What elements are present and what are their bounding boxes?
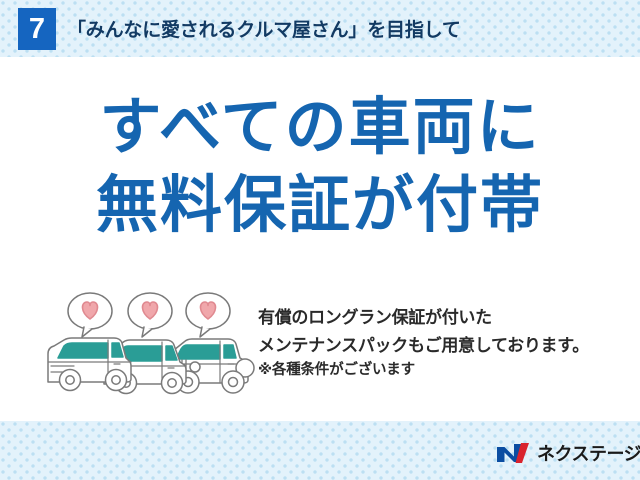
- car-kei-van: [48, 338, 131, 391]
- body-line-2: メンテナンスパックもご用意しております。: [258, 332, 630, 360]
- body-copy: 有償のロングラン保証が付いた メンテナンスパックもご用意しております。 ※各種条…: [258, 304, 630, 383]
- promo-banner: 7 「みんなに愛されるクルマ屋さん」を目指して すべての車両に 無料保証が付帯: [0, 0, 640, 480]
- brand-logo: ネクステージ: [496, 440, 640, 466]
- brand-name: ネクステージ: [537, 440, 640, 466]
- content-row: 有償のロングラン保証が付いた メンテナンスパックもご用意しております。 ※各種条…: [0, 288, 640, 406]
- heart-bubble-1: [68, 293, 112, 337]
- headline-line-1: すべての車両に: [0, 96, 640, 160]
- headline: すべての車両に 無料保証が付帯: [0, 96, 640, 239]
- body-line-1: 有償のロングラン保証が付いた: [258, 304, 630, 332]
- body-note: ※各種条件がございます: [258, 359, 630, 382]
- header-title: 「みんなに愛されるクルマ屋さん」を目指して: [67, 15, 461, 42]
- cars-with-hearts-illustration: [40, 288, 255, 403]
- header: 7 「みんなに愛されるクルマ屋さん」を目指して: [0, 0, 640, 57]
- heart-bubble-2: [128, 293, 172, 337]
- heart-bubble-3: [186, 293, 230, 337]
- nextage-n-mark-icon: [496, 441, 530, 465]
- step-number-badge: 7: [18, 8, 56, 50]
- headline-line-2: 無料保証が付帯: [0, 174, 640, 238]
